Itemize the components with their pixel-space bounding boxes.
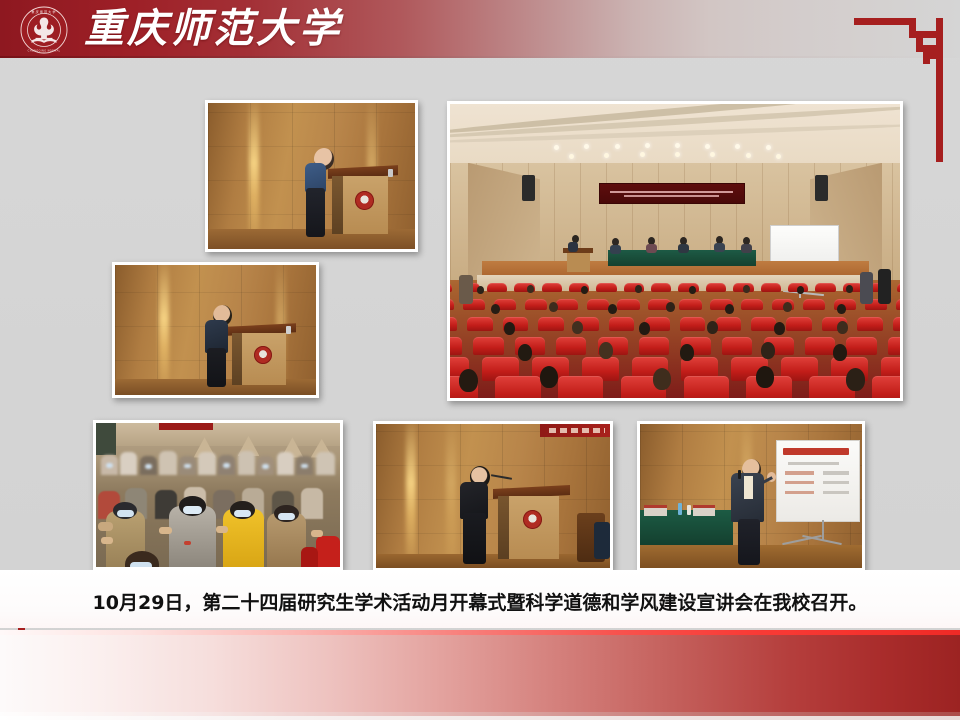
slide-root: 重庆师范大学 CHONGQING NORMAL 重庆师范大学 [0, 0, 960, 720]
photo-host-podium [373, 421, 613, 571]
photo-auditorium-wide [447, 101, 903, 401]
photo-speaker-man-podium [112, 262, 319, 398]
projection-screen [776, 440, 860, 523]
svg-text:重庆师范大学: 重庆师范大学 [31, 9, 56, 14]
university-name: 重庆师范大学 [84, 3, 342, 55]
header-bar: 重庆师范大学 CHONGQING NORMAL 重庆师范大学 [0, 0, 960, 58]
stage-banner [599, 183, 745, 204]
footer-bright-stripe [0, 630, 960, 635]
photo-lecturer-screen [637, 421, 865, 571]
slide-caption: 10月29日，第二十四届研究生学术活动月开幕式暨科学道德和学风建设宣讲会在我校召… [0, 585, 960, 617]
university-seal-icon: 重庆师范大学 CHONGQING NORMAL [18, 5, 70, 55]
svg-text:CHONGQING NORMAL: CHONGQING NORMAL [28, 49, 61, 52]
photo-speaker-woman-podium [205, 100, 418, 252]
footer-red-band [0, 630, 960, 716]
photo-audience-oath [93, 420, 343, 570]
footer-bottom-strip [0, 716, 960, 720]
